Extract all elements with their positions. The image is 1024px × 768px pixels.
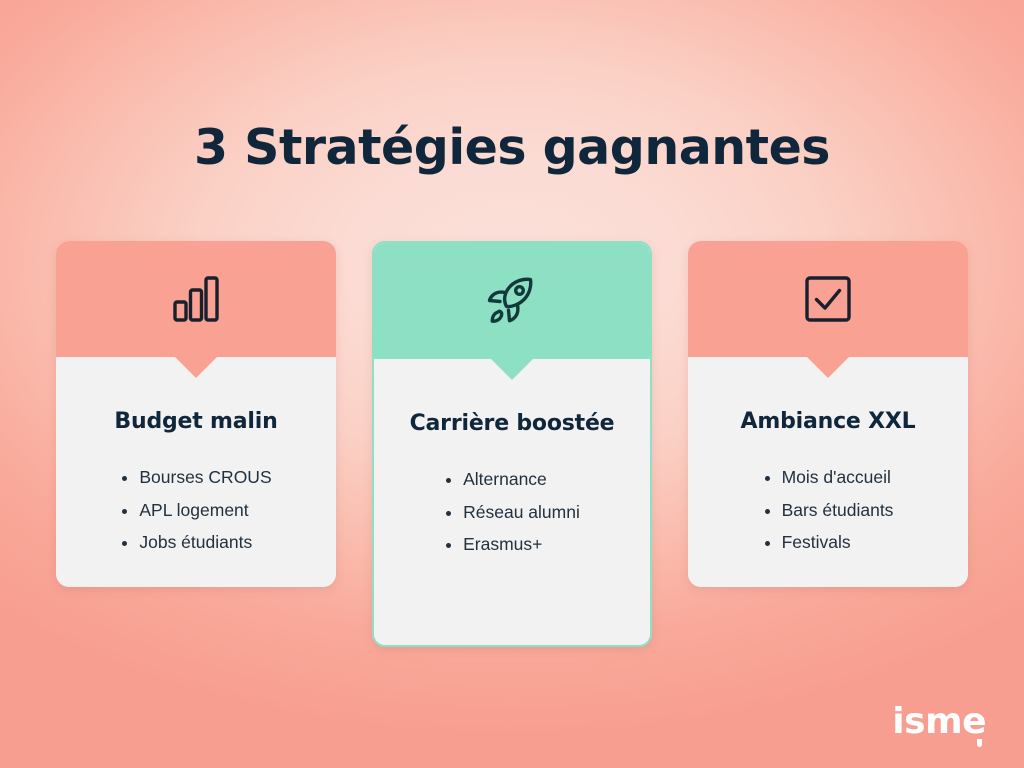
card-title-ambiance: Ambiance XXL xyxy=(706,409,950,435)
card-title-budget: Budget malin xyxy=(74,409,318,435)
header-notch xyxy=(174,356,218,378)
card-header-budget xyxy=(56,241,336,357)
card-title-carriere: Carrière boostée xyxy=(392,411,632,437)
card-body-carriere: Carrière boostée Alternance Réseau alumn… xyxy=(374,359,650,589)
list-item: Bars étudiants xyxy=(763,502,894,520)
card-list-ambiance: Mois d'accueil Bars étudiants Festivals xyxy=(763,469,894,552)
page-title: 3 Stratégies gagnantes xyxy=(0,121,1024,175)
slide-canvas: 3 Stratégies gagnantes Budget malin Bour… xyxy=(0,0,1024,768)
list-item: Festivals xyxy=(763,534,894,552)
card-body-budget: Budget malin Bourses CROUS APL logement … xyxy=(56,357,336,587)
list-item: Mois d'accueil xyxy=(763,469,894,487)
brand-logo-text: isme xyxy=(892,704,986,740)
card-body-ambiance: Ambiance XXL Mois d'accueil Bars étudian… xyxy=(688,357,968,587)
list-item: Bourses CROUS xyxy=(120,469,271,487)
header-notch xyxy=(806,356,850,378)
list-item: Alternance xyxy=(444,471,580,489)
card-list-budget: Bourses CROUS APL logement Jobs étudiant… xyxy=(120,469,271,552)
bar-chart-icon xyxy=(165,268,227,330)
strategy-card-carriere[interactable]: Carrière boostée Alternance Réseau alumn… xyxy=(372,241,652,647)
list-item: Erasmus+ xyxy=(444,536,580,554)
list-item: Réseau alumni xyxy=(444,504,580,522)
brand-logo: isme xyxy=(892,704,986,740)
strategy-card-ambiance[interactable]: Ambiance XXL Mois d'accueil Bars étudian… xyxy=(688,241,968,587)
checkbox-check-icon xyxy=(797,268,859,330)
strategy-cards-row: Budget malin Bourses CROUS APL logement … xyxy=(56,241,968,647)
card-header-ambiance xyxy=(688,241,968,357)
list-item: Jobs étudiants xyxy=(120,534,271,552)
list-item: APL logement xyxy=(120,502,271,520)
rocket-icon xyxy=(481,270,543,332)
card-list-carriere: Alternance Réseau alumni Erasmus+ xyxy=(444,471,580,554)
strategy-card-budget[interactable]: Budget malin Bourses CROUS APL logement … xyxy=(56,241,336,587)
header-notch xyxy=(490,358,534,380)
card-header-carriere xyxy=(374,243,650,359)
